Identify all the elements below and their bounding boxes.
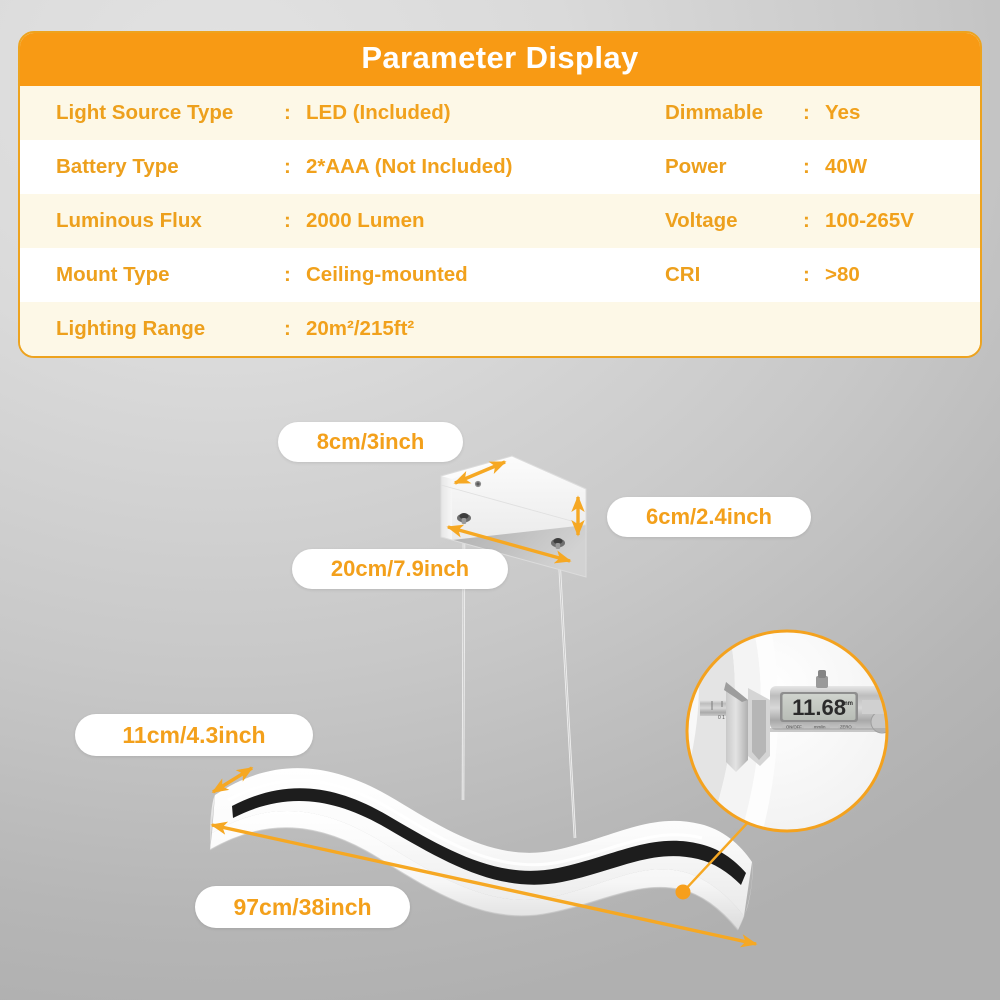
product-illustration: 0 1 2 3 11.68 mm xyxy=(0,0,1000,1000)
callout-canopy-length: 20cm/7.9inch xyxy=(292,549,508,589)
caliper-inset: 0 1 2 3 11.68 mm xyxy=(676,618,908,834)
callout-canopy-height: 6cm/2.4inch xyxy=(607,497,811,537)
caliper-reading: 11.68 xyxy=(792,695,846,720)
callout-body-length: 97cm/38inch xyxy=(195,886,410,928)
caliper-unit: mm xyxy=(842,701,853,707)
infographic-canvas: Parameter Display Light Source Type : LE… xyxy=(0,0,1000,1000)
callout-body-width: 11cm/4.3inch xyxy=(75,714,313,756)
callout-canopy-depth: 8cm/3inch xyxy=(278,422,463,462)
